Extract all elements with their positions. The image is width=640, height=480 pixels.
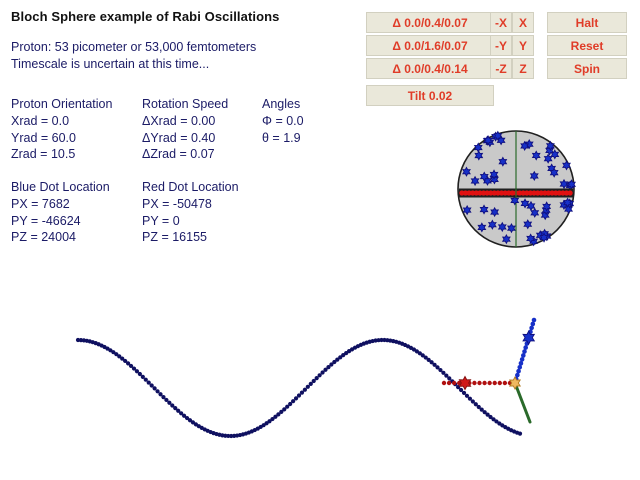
subtitle-timescale: Timescale is uncertain at this time... (11, 57, 209, 71)
equator-dot (568, 190, 573, 195)
green-vector-arm (515, 383, 530, 422)
delta-preset-button-2[interactable]: Δ 0.0/1.6/0.07 (366, 35, 494, 56)
subtitle-proton-size: Proton: 53 picometer or 53,000 femtomete… (11, 40, 256, 54)
blue-arm-dot (517, 365, 522, 370)
rotation-dzrad: ΔZrad = 0.07 (142, 146, 228, 163)
red-arm-dot (498, 381, 502, 385)
blue-arm-dot (522, 349, 527, 354)
tilt-button[interactable]: Tilt 0.02 (366, 85, 494, 106)
rotation-dyrad: ΔYrad = 0.40 (142, 130, 228, 147)
blue-arm-dot (529, 326, 534, 331)
blue-dot-header: Blue Dot Location (11, 180, 110, 194)
blue-arm-dot (520, 357, 525, 362)
blue-dot-pz: PZ = 24004 (11, 229, 110, 246)
red-dot-location-column: Red Dot Location PX = -50478 PY = 0 PZ =… (142, 180, 239, 246)
bloch-sphere-visualization (452, 127, 580, 255)
red-arm-dot (482, 381, 486, 385)
red-arm-dot (472, 381, 476, 385)
blue-dot-px: PX = 7682 (11, 196, 110, 213)
application-window: Bloch Sphere example of Rabi Oscillation… (0, 0, 640, 480)
red-arm-dot (447, 381, 451, 385)
proton-orientation-header: Proton Orientation (11, 97, 112, 111)
red-arm-dot (452, 381, 456, 385)
axis-button-neg-z[interactable]: -Z (490, 58, 512, 79)
red-arm-dot (493, 381, 497, 385)
oscillation-curve (76, 338, 522, 438)
angle-theta: θ = 1.9 (262, 130, 304, 147)
blue-arm-dot (532, 318, 537, 323)
blue-dot-location-column: Blue Dot Location PX = 7682 PY = -46624 … (11, 180, 110, 246)
red-dot-header: Red Dot Location (142, 180, 239, 194)
rotation-dxrad: ΔXrad = 0.00 (142, 113, 228, 130)
proton-orientation-column: Proton Orientation Xrad = 0.0 Yrad = 60.… (11, 97, 112, 163)
curve-point (518, 432, 522, 436)
angles-column: Angles Φ = 0.0 θ = 1.9 (262, 97, 304, 146)
blue-arm-dot (515, 373, 520, 378)
blue-arm-dot (523, 345, 528, 350)
blue-dot-py: PY = -46624 (11, 213, 110, 230)
axis-button-neg-x[interactable]: -X (490, 12, 512, 33)
blue-arm-dot (521, 353, 526, 358)
delta-preset-button-1[interactable]: Δ 0.0/0.4/0.07 (366, 12, 494, 33)
reset-button[interactable]: Reset (547, 35, 627, 56)
spin-button[interactable]: Spin (547, 58, 627, 79)
rabi-oscillation-plot (0, 300, 640, 480)
orientation-yrad: Yrad = 60.0 (11, 130, 112, 147)
orientation-zrad: Zrad = 10.5 (11, 146, 112, 163)
red-arm-dot (442, 381, 446, 385)
red-dot-px: PX = -50478 (142, 196, 239, 213)
delta-preset-button-3[interactable]: Δ 0.0/0.4/0.14 (366, 58, 494, 79)
halt-button[interactable]: Halt (547, 12, 627, 33)
rotation-speed-column: Rotation Speed ΔXrad = 0.00 ΔYrad = 0.40… (142, 97, 228, 163)
red-dot-pz: PZ = 16155 (142, 229, 239, 246)
red-arm-dot (503, 381, 507, 385)
red-vector-tip-dot (459, 377, 470, 390)
axis-button-pos-x[interactable]: X (512, 12, 534, 33)
blue-arm-dot (516, 369, 521, 374)
red-arm-dot (477, 381, 481, 385)
red-dot-py: PY = 0 (142, 213, 239, 230)
red-arm-dot (487, 381, 491, 385)
blue-vector-tip-dot (523, 331, 534, 344)
orientation-xrad: Xrad = 0.0 (11, 113, 112, 130)
page-title: Bloch Sphere example of Rabi Oscillation… (11, 9, 280, 24)
angle-phi: Φ = 0.0 (262, 113, 304, 130)
angles-header: Angles (262, 97, 304, 111)
rotation-speed-header: Rotation Speed (142, 97, 228, 111)
axis-button-neg-y[interactable]: -Y (490, 35, 512, 56)
blue-vector-arm (514, 318, 536, 382)
blue-arm-dot (519, 361, 524, 366)
axis-button-pos-z[interactable]: Z (512, 58, 534, 79)
vector-origin-node (510, 377, 520, 389)
blue-arm-dot (531, 322, 536, 327)
axis-button-pos-y[interactable]: Y (512, 35, 534, 56)
